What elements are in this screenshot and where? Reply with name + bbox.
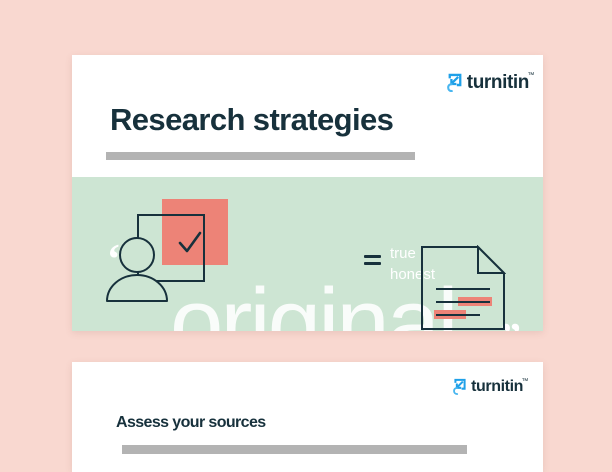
slide-card-research-strategies[interactable]: turnitin™ Research strategies “ ” <box>72 55 543 331</box>
equals-symbol <box>364 255 381 266</box>
turnitin-arrow-icon <box>447 73 463 92</box>
turnitin-logo-text: turnitin™ <box>471 379 523 395</box>
turnitin-logo-text: turnitin™ <box>467 73 529 92</box>
watermark-word-original: original <box>170 275 456 331</box>
trademark-symbol: ™ <box>521 378 528 385</box>
slide-title: Assess your sources <box>116 414 266 432</box>
title-underline-bar <box>122 445 467 454</box>
trademark-symbol: ™ <box>527 72 534 79</box>
coral-square <box>162 199 228 265</box>
person-body <box>107 275 167 301</box>
turnitin-arrow-icon <box>453 378 467 395</box>
document-illustration <box>420 245 506 331</box>
turnitin-logo: turnitin™ <box>453 378 523 395</box>
title-underline-bar <box>106 152 415 160</box>
turnitin-logo: turnitin™ <box>447 73 529 92</box>
slide-title: Research strategies <box>110 102 393 138</box>
illustration-band: “ ” true honest <box>72 177 543 331</box>
slide-card-assess-your-sources[interactable]: turnitin™ Assess your sources <box>72 362 543 472</box>
document-folded-corner <box>478 247 504 273</box>
person-head <box>120 238 154 272</box>
presentation-canvas: turnitin™ Research strategies “ ” <box>0 0 612 460</box>
